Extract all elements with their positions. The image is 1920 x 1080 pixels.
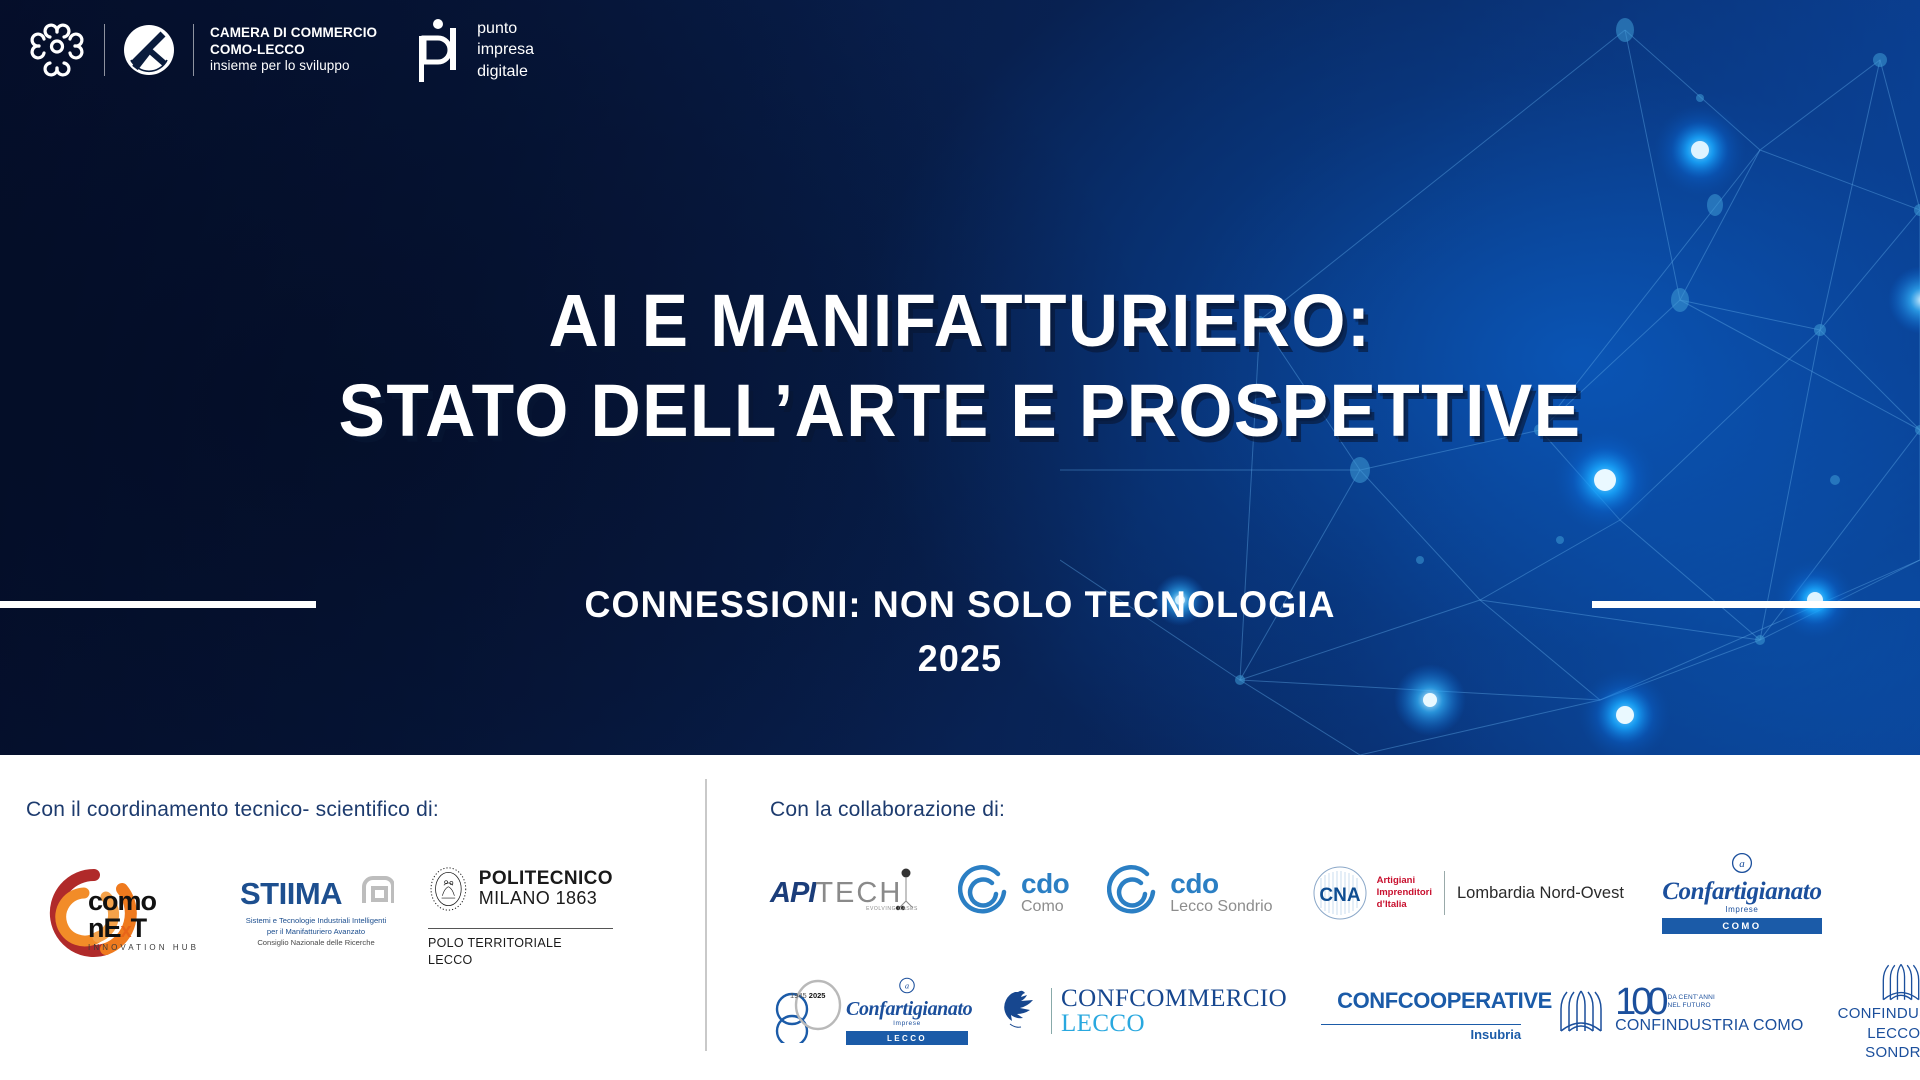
regione-lombardia-emblem-icon	[26, 19, 88, 81]
footer-column-divider	[705, 779, 707, 1051]
stiima-wordmark: STIIMA	[240, 878, 392, 909]
collaboration-logos: APITECH EVOLVING CASES cdo	[770, 852, 1900, 1063]
politecnico-line-3: POLO TERRITORIALE	[428, 935, 613, 952]
confcooperative-rule	[1321, 1024, 1521, 1026]
confartigianato-lecco-mark: a Confartigianato Imprese LECCO	[846, 977, 968, 1045]
confartigianato-mark-icon: a	[897, 977, 917, 994]
svg-text:a: a	[905, 981, 909, 991]
confindustria-100: 100	[1615, 987, 1663, 1017]
stiima-subtitle: Sistemi e Tecnologie Industriali Intelli…	[240, 915, 392, 948]
confartigianato-lecco-brand: Confartigianato	[846, 999, 968, 1019]
politecnico-line-2: MILANO 1863	[479, 889, 613, 909]
confindustria-centenary: 100 DA CENT’ANNI NEL FUTURO	[1615, 987, 1804, 1017]
confartigianato-lecco-sub: Imprese	[846, 1020, 968, 1027]
title-line-2: STATO DELL’ARTE E PROSPETTIVE	[58, 366, 1863, 456]
hero-banner: CAMERA DI COMMERCIO COMO-LECCO insieme p…	[0, 0, 1920, 755]
cdo-lecco-brand: cdo	[1170, 871, 1272, 898]
comonext-logo: como nExT INNOVATION HUB	[34, 867, 204, 959]
confcommercio-text: CONFCOMMERCIO LECCO	[1061, 986, 1287, 1038]
confcommercio-divider	[1051, 988, 1052, 1034]
cna-claim-3: d’Italia	[1377, 899, 1432, 911]
confartigianato-lecco-city: LECCO	[846, 1031, 968, 1045]
confindustria-como-brand: CONFINDUSTRIA COMO	[1615, 1017, 1804, 1035]
camera-di-commercio-emblem-icon	[121, 22, 177, 78]
partners-footer: Con il coordinamento tecnico- scientific…	[0, 755, 1920, 1080]
confcooperative-region: Insubria	[1321, 1027, 1521, 1042]
event-title: AI E MANIFATTURIERO: STATO DELL’ARTE E P…	[0, 276, 1920, 457]
cdo-lecco-sondrio-logo: cdo Lecco Sondrio	[1107, 864, 1272, 922]
cdo-lecco-text: cdo Lecco Sondrio	[1170, 871, 1272, 915]
comonext-wordmark: como nExT INNOVATION HUB	[88, 889, 199, 951]
cdo-spiral-icon	[1107, 864, 1161, 922]
anniversary-80-icon	[770, 979, 846, 1043]
cc-line-1: CAMERA DI COMMERCIO	[210, 25, 377, 42]
comonext-como: como	[88, 889, 199, 915]
cna-claim: Artigiani Imprenditori d’Italia	[1377, 875, 1432, 911]
confartigianato-como-sub: Imprese	[1662, 905, 1822, 914]
confcommercio-eagle-icon	[994, 986, 1042, 1036]
confartigianato-como-city: COMO	[1662, 918, 1822, 934]
comonext-next: nExT	[88, 915, 199, 942]
header-logo-bar: CAMERA DI COMMERCIO COMO-LECCO insieme p…	[26, 14, 534, 86]
apitech-api: API	[770, 877, 815, 910]
logo-divider-1	[104, 24, 105, 76]
confindustria-lecco-sondrio-logo: CONFINDUSTRIA LECCO E SONDRIO	[1838, 960, 1920, 1063]
collaboration-row-2: 1945 2025 a Confartigianato Imprese LECC…	[770, 960, 1900, 1063]
cna-claim-2: Imprenditori	[1377, 887, 1432, 899]
anniversary-years: 1945 2025	[790, 991, 825, 1000]
svg-text:CNA: CNA	[1319, 885, 1360, 906]
pid-line-1: punto	[477, 18, 534, 39]
cna-divider	[1444, 871, 1445, 915]
confindustria-crown-icon	[1555, 987, 1607, 1035]
confcommercio-line-1: CONFCOMMERCIO	[1061, 986, 1287, 1012]
confindustria-como-logo: 100 DA CENT’ANNI NEL FUTURO CONFINDUSTRI…	[1555, 987, 1804, 1035]
confcooperative-top: CONFCOOPERATIVE	[1321, 981, 1521, 1021]
cdo-spiral-icon	[958, 864, 1012, 922]
cdo-lecco-city: Lecco Sondrio	[1170, 898, 1272, 916]
politecnico-line-4: LECCO	[428, 952, 613, 969]
pid-monogram-icon	[411, 14, 465, 86]
subtitle-year: 2025	[29, 632, 1891, 686]
cdo-como-brand: cdo	[1021, 871, 1069, 898]
cdo-como-city: Como	[1021, 898, 1069, 916]
logo-divider-2	[193, 24, 194, 76]
confartigianato-lecco-logo: 1945 2025 a Confartigianato Imprese LECC…	[770, 977, 960, 1045]
cna-region: Lombardia Nord-Ovest	[1457, 884, 1624, 903]
politecnico-line-1: POLITECNICO	[479, 869, 613, 889]
comonext-tagline: INNOVATION HUB	[88, 943, 199, 952]
title-line-1: AI E MANIFATTURIERO:	[58, 276, 1863, 366]
event-subtitle: CONNESSIONI: NON SOLO TECNOLOGIA 2025	[0, 578, 1920, 687]
cna-logo: CNA Artigiani Imprenditori d’Italia Lomb…	[1311, 864, 1624, 922]
cdo-como-logo: cdo Como	[958, 864, 1069, 922]
confartigianato-como-logo: a Confartigianato Imprese COMO	[1662, 852, 1822, 934]
coordination-column: Con il coordinamento tecnico- scientific…	[26, 798, 676, 969]
confindustria-crown-icon	[1878, 960, 1920, 1004]
camera-di-commercio-logo: CAMERA DI COMMERCIO COMO-LECCO insieme p…	[26, 19, 377, 81]
confcooperative-insubria-logo: CONFCOOPERATIVE Insubria	[1321, 981, 1521, 1043]
politecnico-rule	[428, 928, 613, 929]
apitech-logo: APITECH EVOLVING CASES	[770, 877, 920, 910]
stiima-mark-icon	[360, 875, 394, 907]
confindustria-claim: DA CENT’ANNI NEL FUTURO	[1667, 994, 1715, 1011]
apitech-tagline: EVOLVING CASES	[866, 906, 918, 912]
confartigianato-mark-icon: a	[1729, 852, 1755, 874]
camera-di-commercio-text: CAMERA DI COMMERCIO COMO-LECCO insieme p…	[210, 25, 377, 75]
cdo-como-text: cdo Como	[1021, 871, 1069, 915]
confcommercio-line-2: LECCO	[1061, 1011, 1287, 1037]
punto-impresa-digitale-logo: punto impresa digitale	[411, 14, 534, 86]
coordination-logos: como nExT INNOVATION HUB STIIMA Sistemi …	[26, 858, 676, 969]
politecnico-top: POLITECNICO MILANO 1863	[428, 858, 613, 920]
cna-claim-1: Artigiani	[1377, 875, 1432, 887]
stiima-sub-3: Consiglio Nazionale delle Ricerche	[240, 937, 392, 948]
coordination-heading: Con il coordinamento tecnico- scientific…	[26, 798, 676, 822]
cc-line-3: insieme per lo sviluppo	[210, 58, 377, 75]
confcooperative-brand: CONFCOOPERATIVE	[1337, 988, 1552, 1014]
subtitle-line-1: CONNESSIONI: NON SOLO TECNOLOGIA	[29, 578, 1891, 632]
stiima-logo: STIIMA Sistemi e Tecnologie Industriali …	[240, 878, 392, 948]
collaboration-heading: Con la collaborazione di:	[770, 798, 1900, 822]
confartigianato-como-brand: Confartigianato	[1662, 879, 1822, 904]
collaboration-row-1: APITECH EVOLVING CASES cdo	[770, 852, 1900, 934]
politecnico-seal-icon	[428, 858, 469, 920]
collaboration-column: Con la collaborazione di: APITECH EVOLVI…	[770, 798, 1900, 1063]
cc-line-2: COMO-LECCO	[210, 42, 377, 59]
pid-text: punto impresa digitale	[477, 18, 534, 82]
confindustria-ls-line-2: LECCO E SONDRIO	[1838, 1024, 1920, 1063]
pid-line-3: digitale	[477, 61, 534, 82]
confindustria-ls-line-1: CONFINDUSTRIA	[1838, 1004, 1920, 1024]
confartigianato-anniversary: 1945 2025	[770, 979, 846, 1043]
stiima-title: STIIMA	[240, 876, 342, 911]
pid-line-2: impresa	[477, 39, 534, 60]
confcommercio-lecco-logo: CONFCOMMERCIO LECCO	[994, 986, 1287, 1038]
politecnico-milano-logo: POLITECNICO MILANO 1863 POLO TERRITORIAL…	[428, 858, 613, 969]
apitech-molecule-icon	[886, 867, 926, 911]
stiima-sub-1: Sistemi e Tecnologie Industriali Intelli…	[240, 915, 392, 926]
cna-emblem-icon: CNA	[1311, 864, 1369, 922]
svg-text:a: a	[1739, 858, 1745, 870]
stiima-sub-2: per il Manifatturiero Avanzato	[240, 926, 392, 937]
